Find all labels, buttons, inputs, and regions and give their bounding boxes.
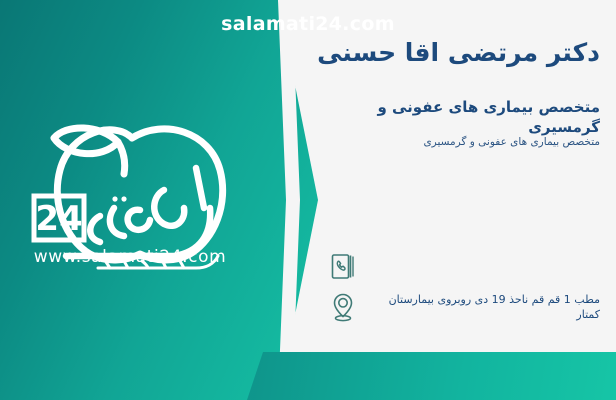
salamati24-logo: 24 www.salamati24.com [14, 104, 246, 280]
footer-website[interactable]: salamati24.com [0, 13, 616, 35]
contact-row-phone[interactable] [330, 252, 600, 282]
svg-text:24: 24 [35, 199, 82, 239]
doctor-specialty-secondary: متخصص بیماری های عفونی و گرمسیری [330, 135, 600, 150]
logo-badge-24: 24 [34, 196, 84, 240]
location-pin-icon [330, 292, 356, 322]
brand-script-glyphs [66, 168, 210, 256]
logo-website-url: www.salamati24.com [14, 247, 246, 267]
contact-row-address[interactable]: مطب 1 قم قم ناحذ 19 دی روبروی بیمارستان … [330, 292, 600, 323]
clinic-address: مطب 1 قم قم ناحذ 19 دی روبروی بیمارستان … [366, 292, 600, 323]
phone-book-icon [330, 252, 356, 282]
card-content-column: دکتر مرتضی اقا حسنی متخصص بیماری های عفو… [330, 0, 600, 352]
leaf-icon [54, 128, 118, 154]
doctor-specialty: متخصص بیماری های عفونی و گرمسیری [330, 98, 600, 137]
doctor-name: دکتر مرتضی اقا حسنی [330, 38, 600, 68]
doctor-profile-card: 24 www.salamati24.com دکتر مرتضی اقا حسن… [0, 0, 616, 400]
